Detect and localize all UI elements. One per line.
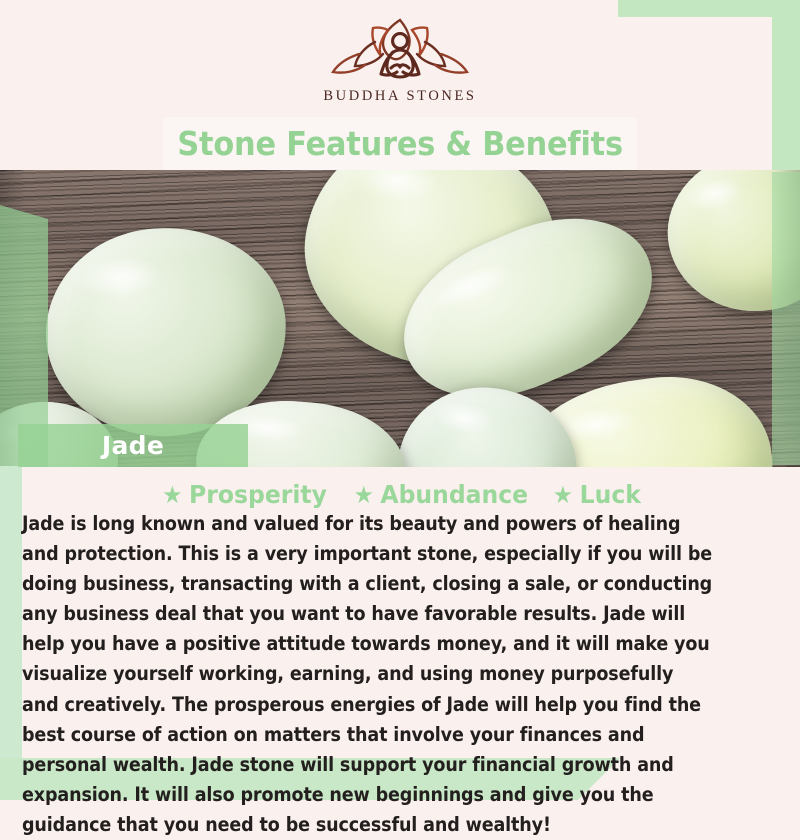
stone-name-badge: Jade (18, 424, 248, 467)
stone-name: Jade (102, 431, 164, 460)
brand-logo: BUDDHA STONES (0, 14, 800, 114)
stone-description: Jade is long known and valued for its be… (22, 509, 715, 840)
benefits-row: ★ Prosperity ★ Abundance ★ Luck (0, 480, 800, 509)
benefit-label: Luck (579, 480, 640, 509)
lotus-meditation-icon (325, 14, 475, 86)
benefit-item: ★ Prosperity (162, 480, 327, 509)
frame-right-overlay-band (772, 172, 800, 465)
benefit-item: ★ Luck (552, 480, 640, 509)
benefit-item: ★ Abundance (353, 480, 528, 509)
page-title-banner: Stone Features & Benefits (163, 117, 637, 170)
star-icon: ★ (353, 483, 373, 507)
brand-name: BUDDHA STONES (323, 88, 476, 105)
frame-left-lower-band (0, 466, 22, 758)
star-icon: ★ (552, 483, 572, 507)
page-title: Stone Features & Benefits (177, 124, 623, 163)
benefit-label: Prosperity (189, 480, 327, 509)
benefit-label: Abundance (380, 480, 528, 509)
star-icon: ★ (162, 483, 182, 507)
stone-photo (0, 170, 800, 467)
